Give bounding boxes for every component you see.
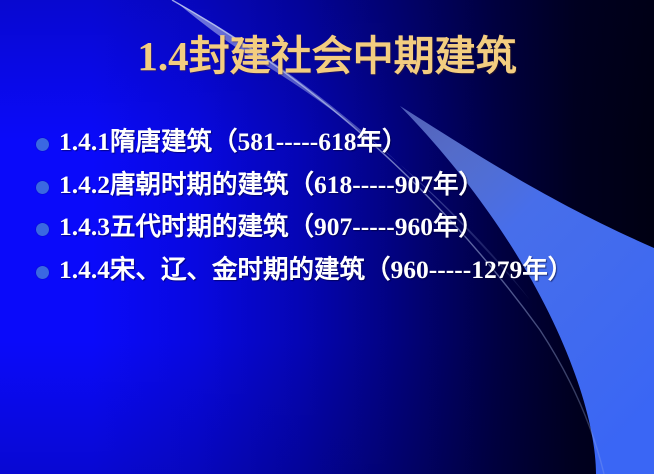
bullet-marker-icon xyxy=(36,181,49,194)
slide-title: 1.4封建社会中期建筑 xyxy=(0,32,654,80)
bullet-marker-icon xyxy=(36,266,49,279)
bullet-item-2: 1.4.2唐朝时期的建筑（618-----907年） xyxy=(30,169,630,202)
slide-body-content: 1.4.1隋唐建筑（581-----618年） 1.4.2唐朝时期的建筑（618… xyxy=(30,126,630,287)
bullet-item-4-text: 1.4.4宋、辽、金时期的建筑（960-----1279年） xyxy=(59,254,630,287)
bullet-item-1: 1.4.1隋唐建筑（581-----618年） xyxy=(30,126,630,159)
bullet-marker-icon xyxy=(36,138,49,151)
presentation-slide: 1.4封建社会中期建筑 1.4.1隋唐建筑（581-----618年） 1.4.… xyxy=(0,0,654,474)
bullet-item-2-text: 1.4.2唐朝时期的建筑（618-----907年） xyxy=(59,169,630,202)
bullet-item-3-text: 1.4.3五代时期的建筑（907-----960年） xyxy=(59,211,630,244)
bullet-item-1-text: 1.4.1隋唐建筑（581-----618年） xyxy=(59,126,630,159)
bullet-item-4: 1.4.4宋、辽、金时期的建筑（960-----1279年） xyxy=(30,254,630,287)
bullet-marker-icon xyxy=(36,223,49,236)
bullet-item-3: 1.4.3五代时期的建筑（907-----960年） xyxy=(30,211,630,244)
